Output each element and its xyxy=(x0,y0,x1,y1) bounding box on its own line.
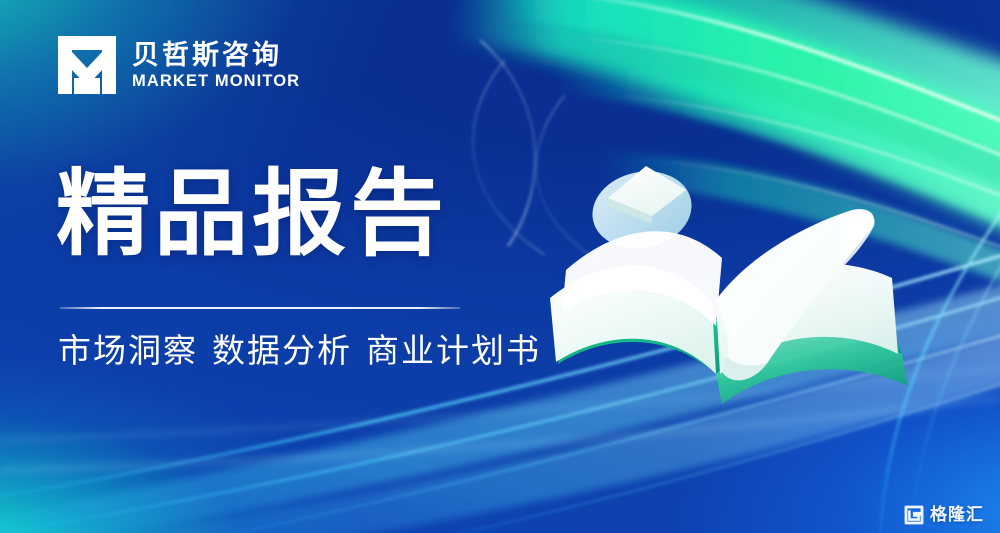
page-left-top xyxy=(562,231,722,326)
market-monitor-logo-icon xyxy=(56,34,118,96)
book-cover-right xyxy=(716,337,908,404)
subtitle-item-1: 市场洞察 xyxy=(58,331,198,370)
page-curl-shadow xyxy=(722,356,768,380)
brand-lockup: 贝哲斯咨询 MARKET MONITOR xyxy=(56,34,300,96)
bookmark-side xyxy=(608,198,652,224)
page-title: 精品报告 xyxy=(56,168,448,262)
promo-banner: 贝哲斯咨询 MARKET MONITOR 精品报告 市场洞察数据分析商业计划书 … xyxy=(0,0,1000,533)
subtitle-row: 市场洞察数据分析商业计划书 xyxy=(58,330,541,371)
gelonghui-logo-icon xyxy=(904,505,924,525)
disc-shape xyxy=(585,162,699,257)
open-book-illustration xyxy=(540,150,960,430)
brand-name-cn: 贝哲斯咨询 xyxy=(132,42,300,70)
brand-name-en: MARKET MONITOR xyxy=(132,73,300,90)
watermark-text: 格隆汇 xyxy=(930,507,984,524)
page-right xyxy=(716,263,898,374)
watermark: 格隆汇 xyxy=(904,505,984,525)
content-column: 贝哲斯咨询 MARKET MONITOR 精品报告 市场洞察数据分析商业计划书 xyxy=(56,0,576,533)
page-curl xyxy=(716,209,874,380)
subtitle-item-2: 数据分析 xyxy=(212,331,352,370)
brand-text-block: 贝哲斯咨询 MARKET MONITOR xyxy=(132,40,300,90)
title-divider xyxy=(60,307,460,309)
page-curl-highlight xyxy=(840,212,875,270)
bookmark-shape xyxy=(608,166,686,216)
book-edge-accent xyxy=(586,318,610,324)
book-cover-left xyxy=(558,289,902,374)
green-filaments xyxy=(540,0,1000,265)
subtitle-item-3: 商业计划书 xyxy=(366,331,541,370)
